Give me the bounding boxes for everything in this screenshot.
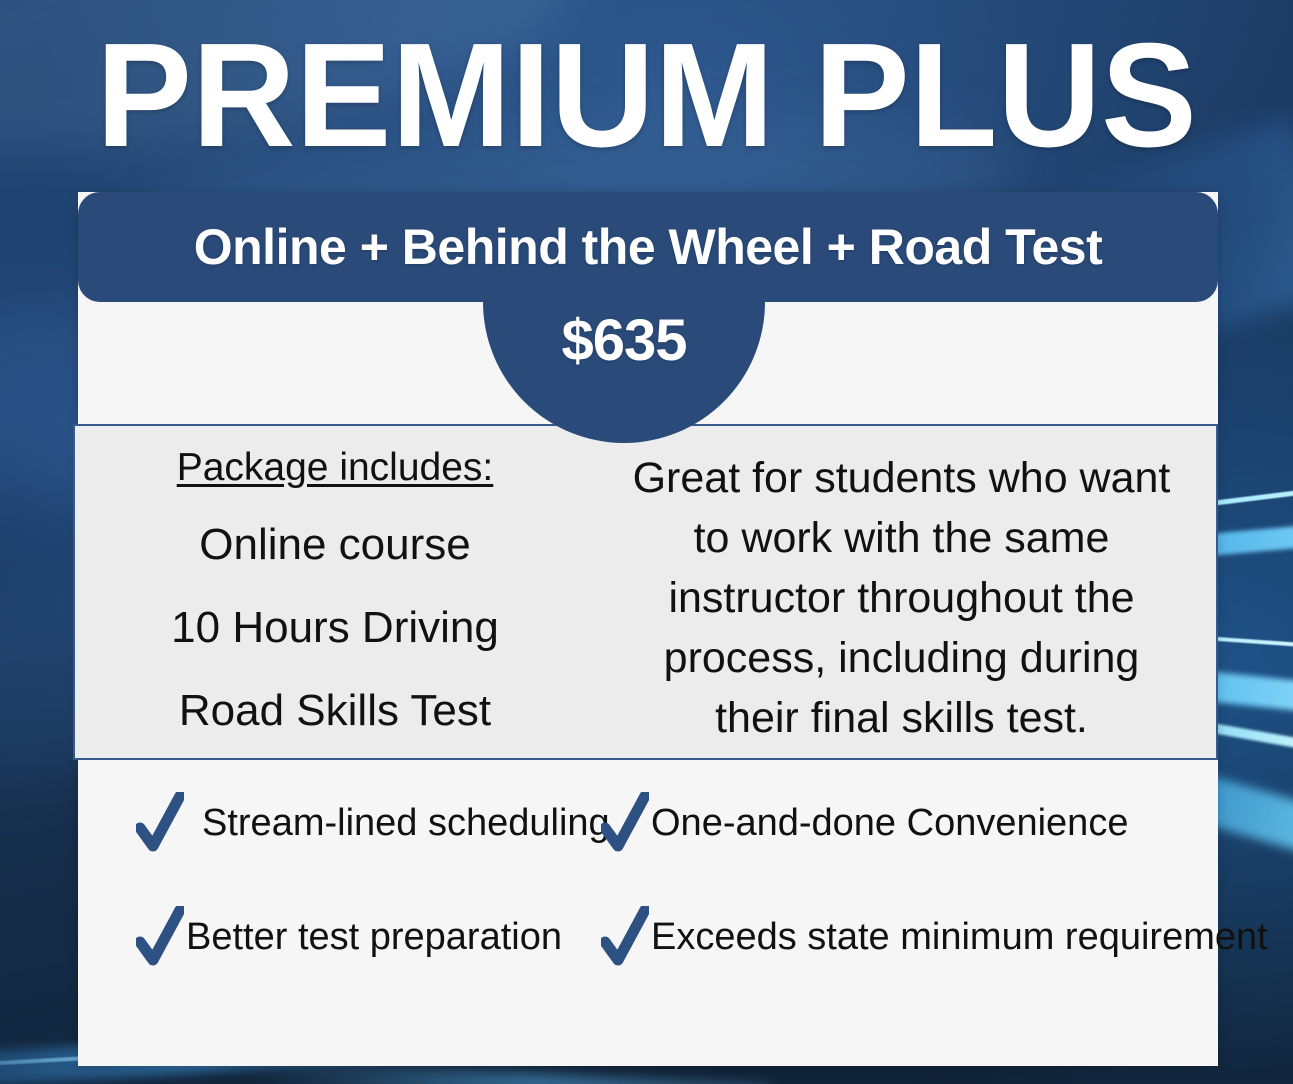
benefit-label: One-and-done Convenience <box>651 801 1128 845</box>
package-includes-heading: Package includes: <box>177 446 494 490</box>
card-header-bar: Online + Behind the Wheel + Road Test <box>78 192 1218 302</box>
price-badge: $635 <box>483 302 765 443</box>
benefit-row: Exceeds state minimum requirement <box>601 906 1268 968</box>
benefit-row: Better test preparation <box>136 906 601 968</box>
benefits-checklist: Stream-lined scheduling One-and-done Con… <box>78 792 1218 968</box>
card-header-title: Online + Behind the Wheel + Road Test <box>194 219 1102 275</box>
package-item: Online course <box>199 520 470 570</box>
package-info-box: Package includes: Online course 10 Hours… <box>73 424 1218 760</box>
check-icon <box>136 906 184 968</box>
benefit-label: Stream-lined scheduling <box>202 801 610 845</box>
benefit-label: Exceeds state minimum requirement <box>651 915 1268 959</box>
check-icon <box>601 792 649 854</box>
package-description-column: Great for students who want to work with… <box>595 426 1216 758</box>
package-item: 10 Hours Driving <box>171 603 499 653</box>
price-value: $635 <box>561 310 686 372</box>
benefit-label: Better test preparation <box>186 915 562 959</box>
pricing-card: Online + Behind the Wheel + Road Test $6… <box>78 192 1218 1066</box>
package-description: Great for students who want to work with… <box>619 448 1184 748</box>
benefit-row: One-and-done Convenience <box>601 792 1268 854</box>
benefit-row: Stream-lined scheduling <box>136 792 601 854</box>
package-item: Road Skills Test <box>179 686 491 736</box>
check-icon <box>601 906 649 968</box>
check-icon <box>136 792 184 854</box>
page-title: PREMIUM PLUS <box>19 21 1273 171</box>
package-includes-column: Package includes: Online course 10 Hours… <box>75 426 595 758</box>
